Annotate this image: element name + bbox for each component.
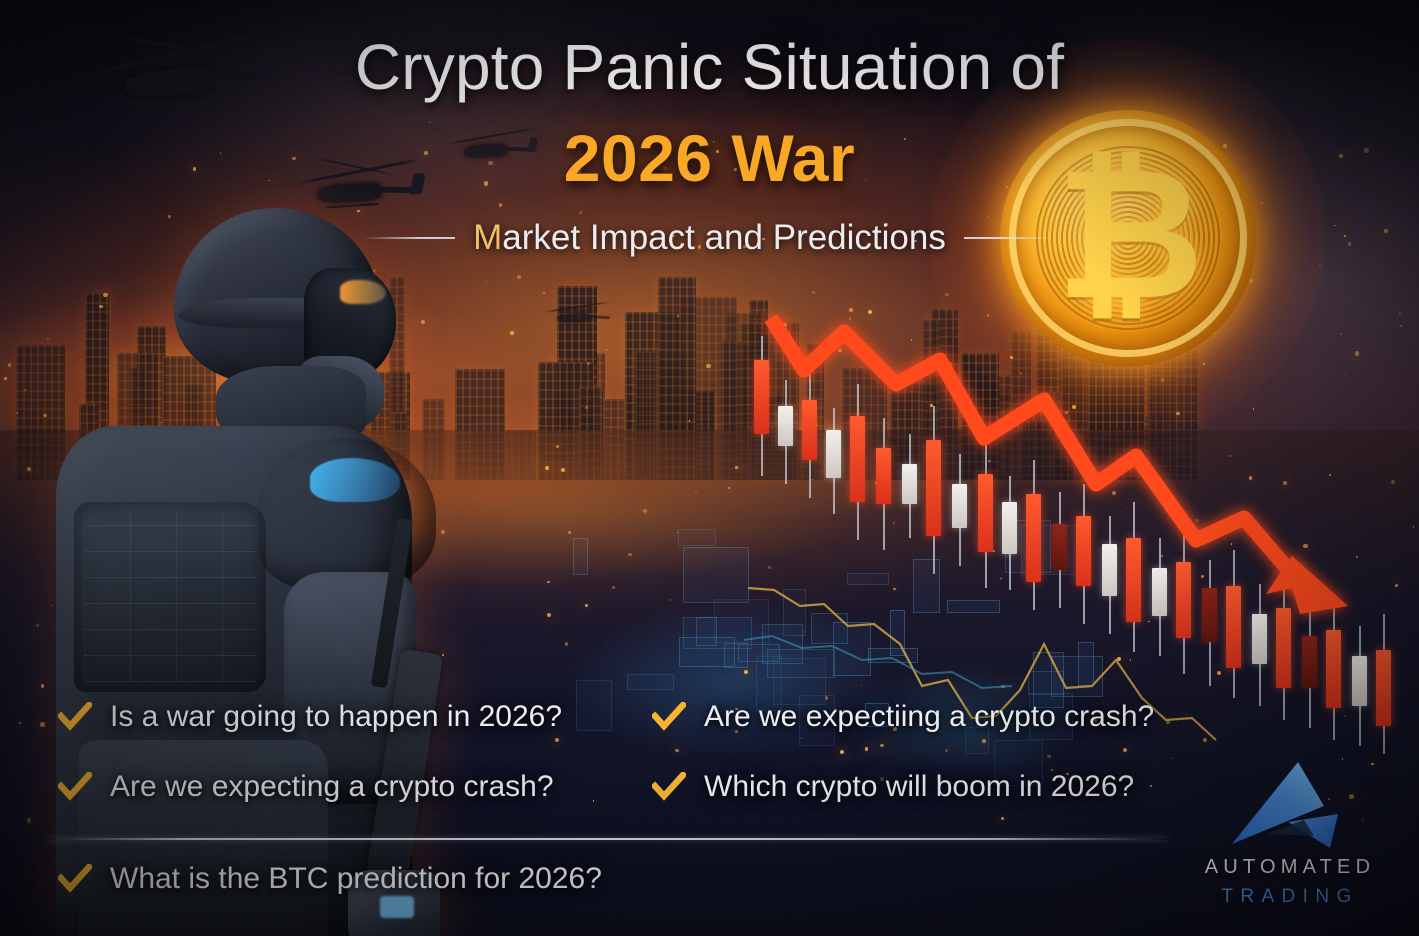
- film-grain-overlay: [0, 0, 1419, 936]
- poster-canvas: ₿ Crypto Panic Situation of 2026 War Mar…: [0, 0, 1419, 936]
